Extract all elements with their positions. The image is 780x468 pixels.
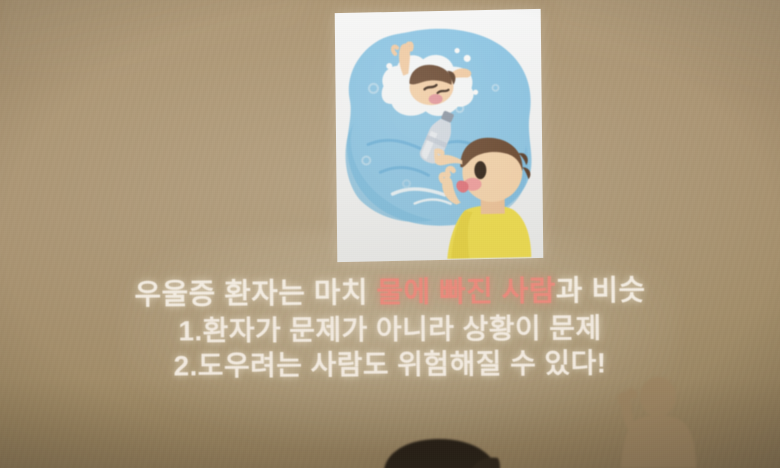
audience-head-silhouette (374, 436, 506, 468)
caption-line-1-pre: 우울증 환자는 마치 (134, 277, 376, 311)
slide-caption: 우울증 환자는 마치 물에 빠진 사람과 비슷 1.환자가 문제가 아니라 상황… (90, 279, 690, 380)
caption-line-1: 우울증 환자는 마치 물에 빠진 사람과 비슷 (90, 276, 690, 311)
presenter-shadow-silhouette (600, 375, 720, 468)
projected-slide-image (335, 9, 544, 262)
screenshot-root: 우울증 환자는 마치 물에 빠진 사람과 비슷 1.환자가 문제가 아니라 상황… (0, 0, 780, 468)
slide-illustration (335, 9, 544, 262)
caption-line-2: 1.환자가 문제가 아니라 상황이 문제 (90, 313, 690, 346)
caption-line-1-highlight: 물에 빠진 사람 (376, 276, 556, 310)
shouting-boy-icon (434, 117, 543, 259)
caption-line-1-post: 과 비슷 (556, 275, 646, 308)
